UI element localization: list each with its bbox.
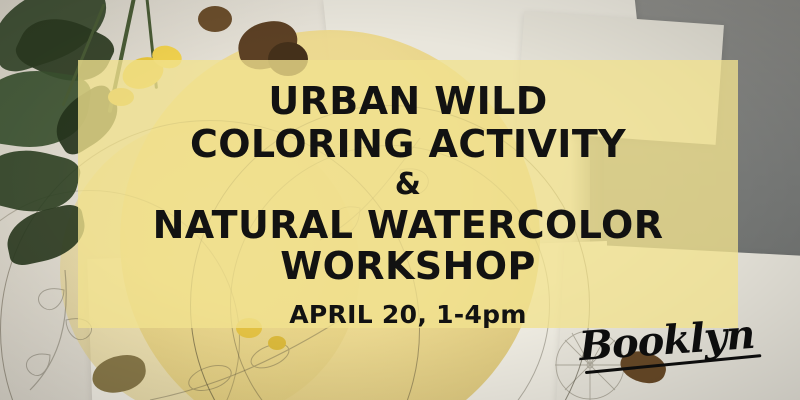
dried-seedpod <box>198 6 232 32</box>
title-line-1: URBAN WILD <box>78 82 738 121</box>
poster-text-block: URBAN WILD COLORING ACTIVITY & NATURAL W… <box>78 62 738 329</box>
dried-flower <box>268 336 286 350</box>
title-line-3: NATURAL WATERCOLOR <box>78 206 738 245</box>
title-line-4: WORKSHOP <box>78 247 738 286</box>
event-poster: URBAN WILD COLORING ACTIVITY & NATURAL W… <box>0 0 800 400</box>
title-ampersand: & <box>78 170 738 201</box>
title-line-2: COLORING ACTIVITY <box>78 125 738 164</box>
